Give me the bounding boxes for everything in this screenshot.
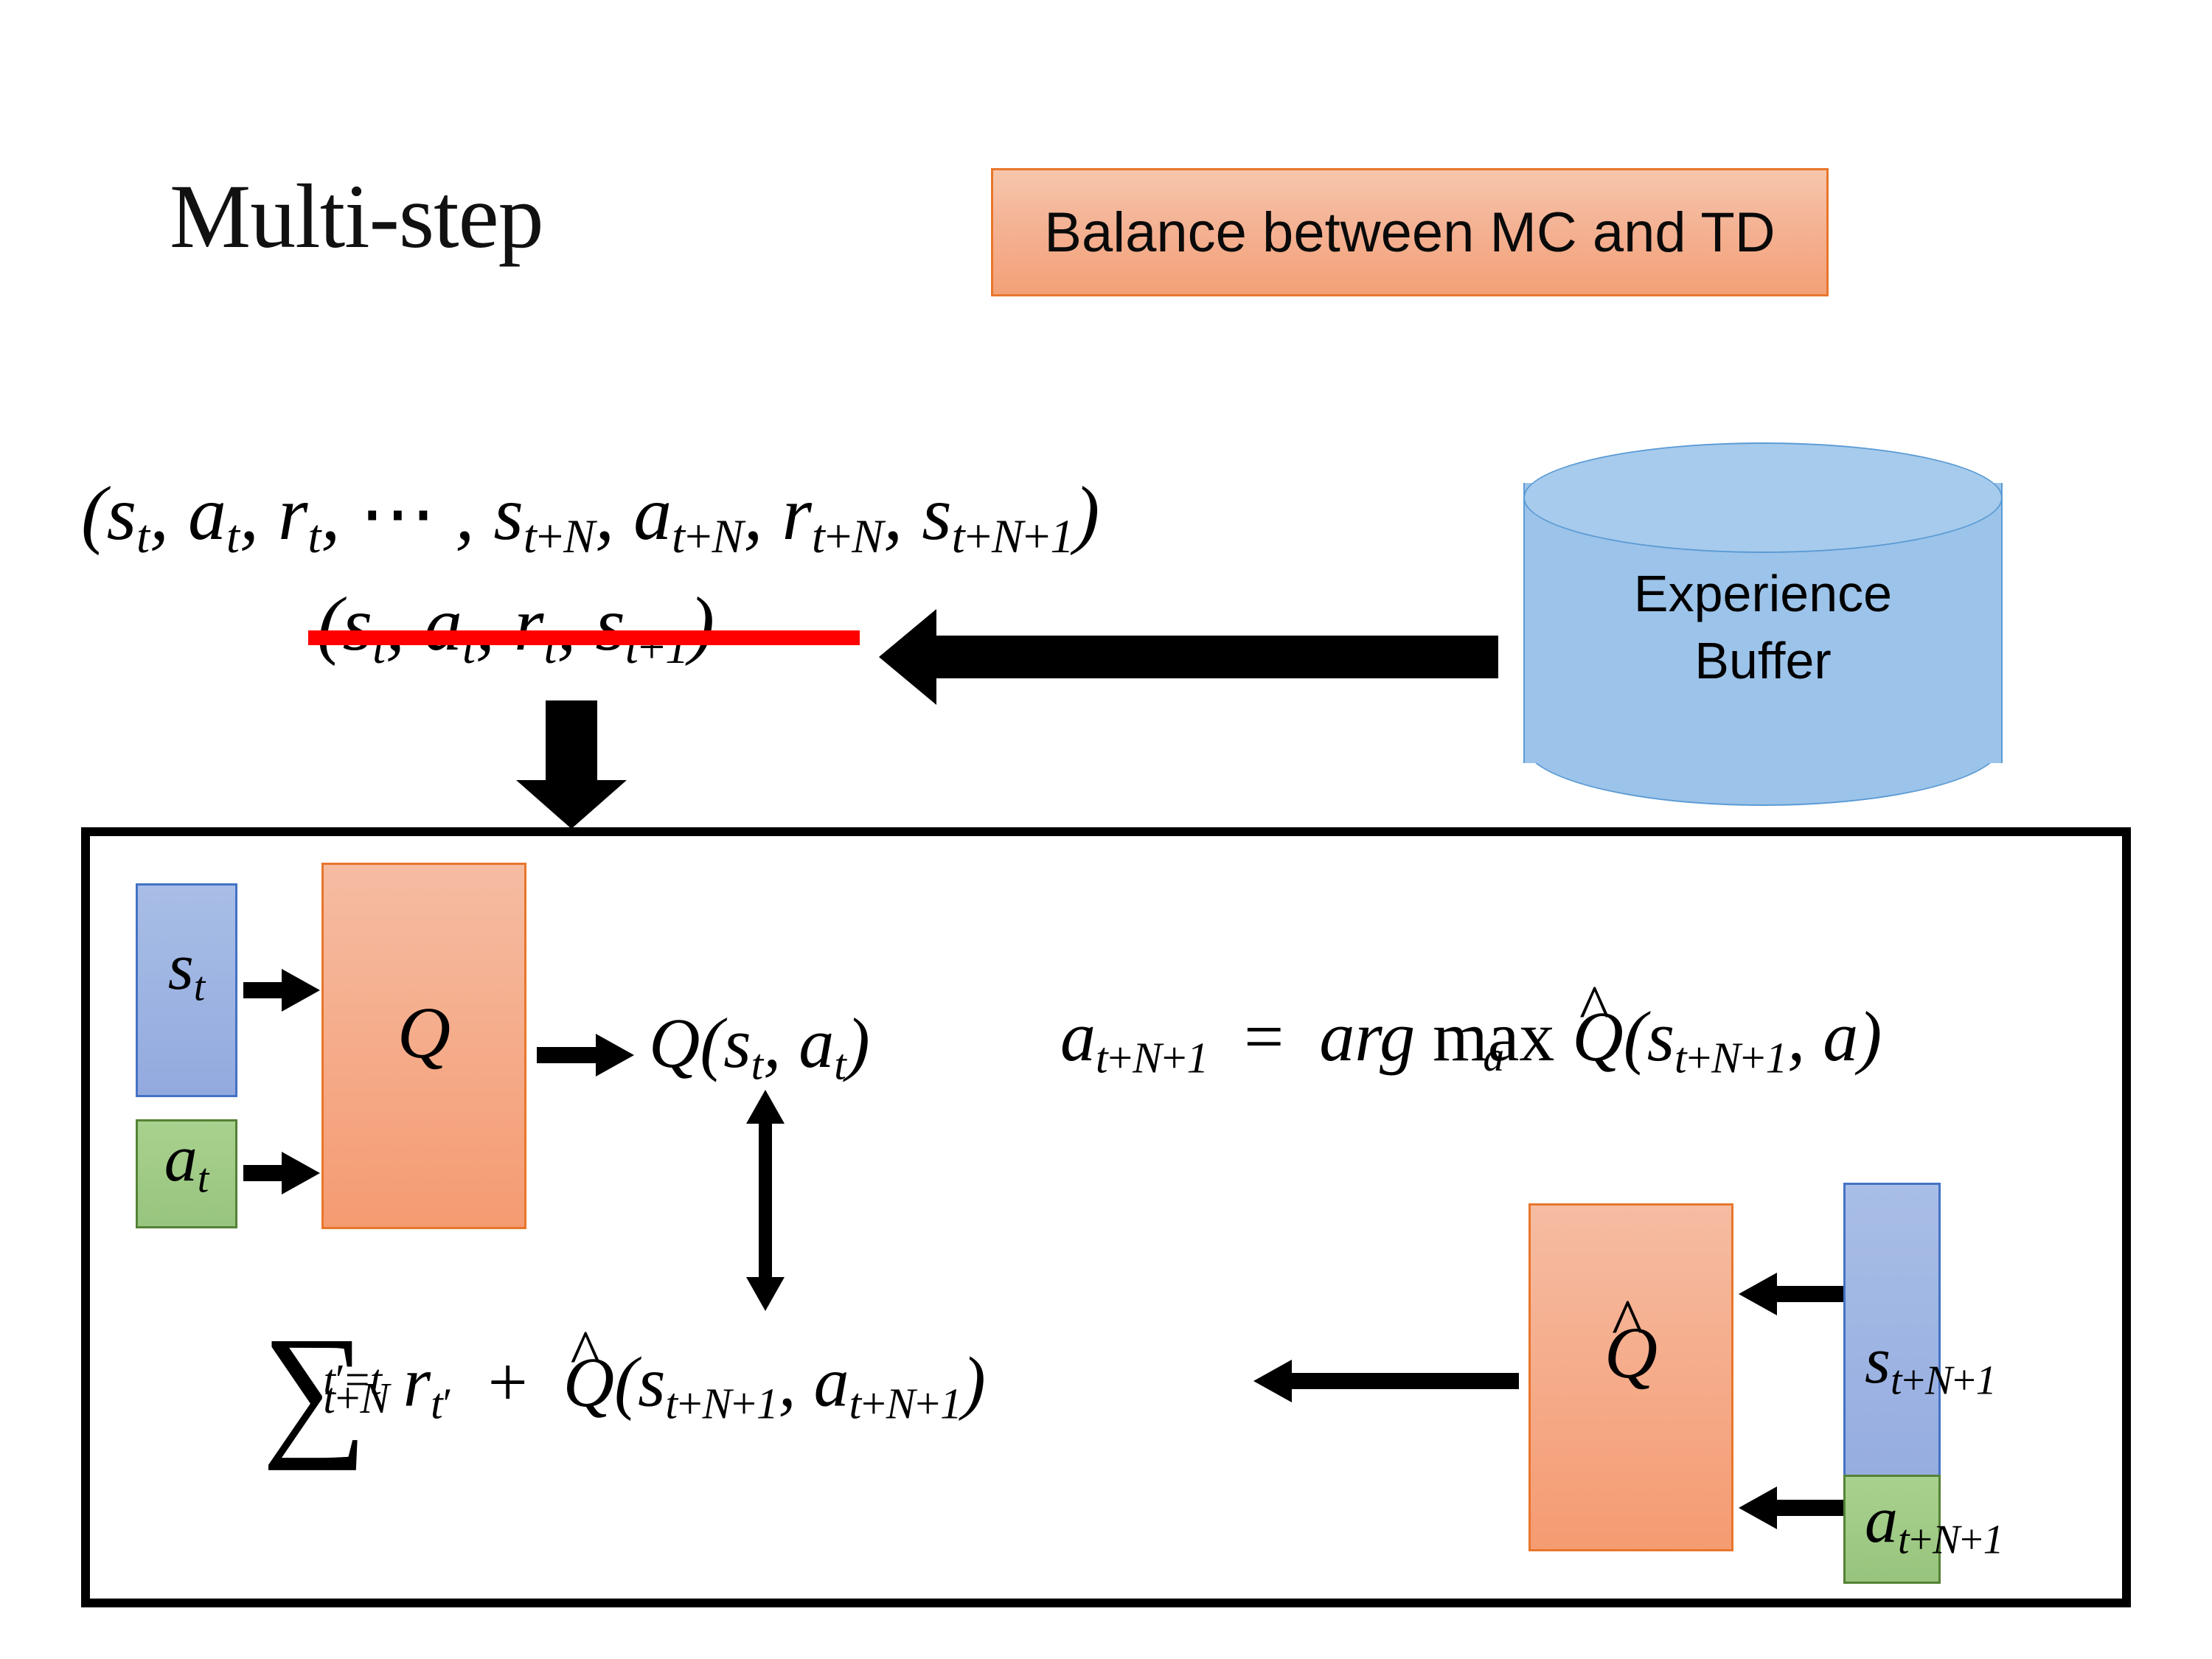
strikethrough-icon — [308, 630, 860, 645]
action-input-box: at — [136, 1119, 237, 1228]
arrow-shaft — [1767, 1286, 1848, 1302]
arrow-head — [1739, 1273, 1777, 1315]
arrow-head — [596, 1034, 634, 1077]
arrow-shaft — [546, 700, 597, 782]
arrow-head — [879, 609, 936, 705]
arrow-head — [516, 780, 627, 829]
state-input-box: st — [136, 883, 237, 1097]
target-equation: ∑t+Nt′=t rt′ + Q^(st+N+1, at+N+1) — [262, 1326, 986, 1452]
arrow-head-down — [746, 1277, 785, 1311]
arrow-head — [282, 1152, 320, 1194]
experience-buffer-label: Experience Buffer — [1523, 560, 2003, 695]
arrow-shaft — [1767, 1500, 1848, 1516]
singlestep-tuple-group: (st, at, rt, st+1) — [317, 586, 714, 672]
multistep-tuple: (st, at, rt, ⋯ , st+N, at+N, rt+N, st+N+… — [81, 476, 1099, 561]
callout-banner-label: Balance between MC and TD — [1044, 201, 1775, 265]
slide-canvas: Multi-step Balance between MC and TD (st… — [0, 0, 2212, 1659]
target-network-box: Q^ — [1528, 1203, 1733, 1551]
buffer-label-line1: Experience — [1523, 560, 2003, 627]
arrow-shaft — [931, 636, 1498, 678]
arrow-head — [282, 969, 320, 1012]
online-q-output: Q(st, at) — [649, 1008, 870, 1087]
singlestep-tuple: (st, at, rt, st+1) — [317, 586, 714, 672]
callout-banner: Balance between MC and TD — [991, 168, 1829, 296]
experience-buffer-cylinder: Experience Buffer — [1523, 442, 2003, 804]
arrow-down-icon — [516, 700, 627, 827]
action-input-label: at — [138, 1126, 235, 1200]
online-network-label: Q — [324, 996, 524, 1070]
online-network-box: Q — [321, 863, 526, 1229]
target-action-input-box: at+N+1 — [1843, 1475, 1941, 1584]
target-action-input-label: at+N+1 — [1865, 1487, 2004, 1561]
cylinder-top — [1523, 442, 2003, 553]
buffer-label-line2: Buffer — [1523, 627, 2003, 695]
arrow-shaft — [759, 1116, 772, 1284]
target-network-label: Q^ — [1531, 1316, 1731, 1390]
arrow-head — [1739, 1486, 1777, 1529]
arrow-shaft — [1283, 1373, 1519, 1389]
page-title: Multi-step — [170, 171, 543, 262]
arrow-up-down-icon — [746, 1090, 785, 1311]
state-input-label: st — [138, 934, 235, 1008]
argmax-equation: at+N+1 = arg maxa Q^(st+N+1, a) — [1060, 1001, 1882, 1080]
target-state-input-label: st+N+1 — [1865, 1328, 1997, 1402]
summation-symbol: ∑t+Nt′=t — [262, 1326, 368, 1452]
arrow-head — [1253, 1360, 1292, 1402]
